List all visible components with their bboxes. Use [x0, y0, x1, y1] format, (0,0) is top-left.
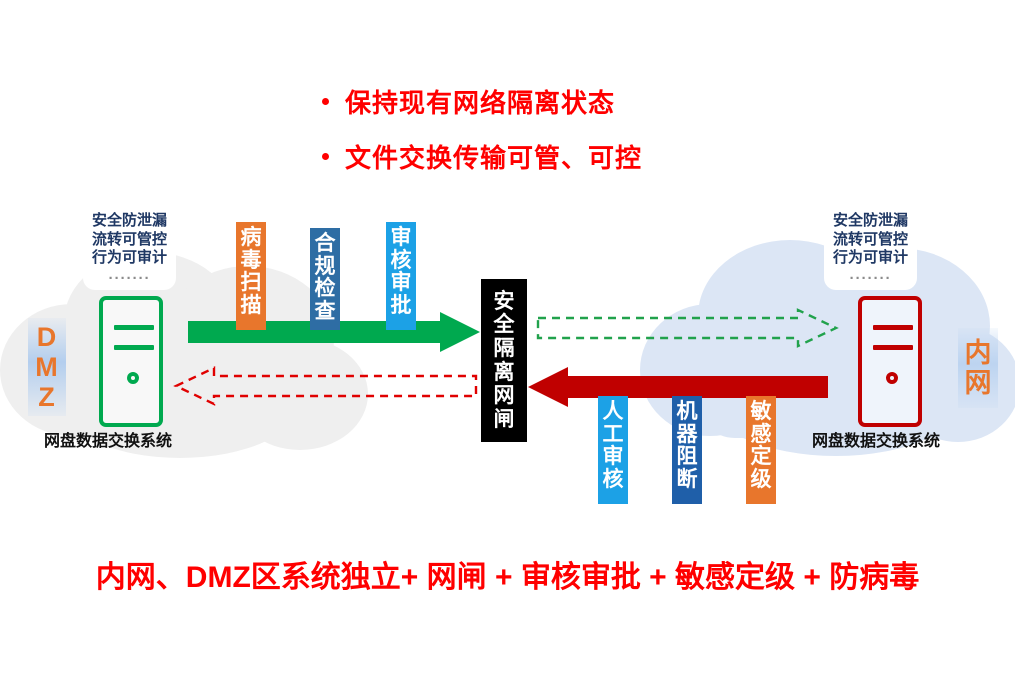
control-chip-char: 审	[603, 446, 624, 469]
intranet-server-icon	[858, 296, 922, 427]
intranet-callout-line-3: 行为可审计	[833, 249, 908, 268]
control-chip-char: 人	[603, 401, 624, 424]
server-bar-icon	[114, 325, 154, 330]
control-chip-char: 合	[315, 233, 336, 256]
dmz-callout-dots: ·······	[92, 268, 167, 286]
bullet-dot-icon	[322, 98, 329, 105]
control-chip-char: 机	[677, 401, 698, 424]
intranet-system-caption: 网盘数据交换系统	[812, 427, 940, 451]
gateway-char: 安	[494, 290, 515, 314]
zone-dmz-letter-3: Z	[38, 382, 56, 412]
footer-summary-text: 内网、DMZ区系统独立+ 网闸 + 审核审批 + 敏感定级 + 防病毒	[0, 552, 1015, 596]
zone-badge-dmz: D M Z	[28, 318, 66, 416]
control-chip-machine-block: 机 器 阻 断	[672, 396, 702, 504]
control-chip-char: 感	[751, 424, 772, 447]
zone-dmz-letter-1: D	[37, 322, 58, 352]
control-chip-char: 审	[391, 272, 412, 295]
control-chip-char: 扫	[241, 272, 262, 295]
control-chip-char: 规	[315, 256, 336, 279]
control-chip-char: 敏	[751, 401, 772, 424]
control-chip-char: 核	[603, 469, 624, 492]
control-chip-char: 核	[391, 250, 412, 273]
control-chip-char: 检	[315, 278, 336, 301]
server-bar-icon	[114, 345, 154, 350]
control-chip-char: 描	[241, 295, 262, 318]
bullet-dot-icon	[322, 153, 329, 160]
gateway-char: 全	[494, 313, 515, 337]
intranet-callout-bubble: 安全防泄漏 流转可管控 行为可审计 ·······	[824, 206, 917, 290]
security-gateway-block: 安 全 隔 离 网 闸	[481, 279, 527, 442]
control-chip-char: 器	[677, 424, 698, 447]
control-chip-char: 审	[391, 227, 412, 250]
gateway-to-intranet-arrow	[538, 310, 836, 346]
zone-intranet-char-2: 网	[965, 368, 992, 398]
zone-badge-intranet: 内 网	[958, 328, 998, 408]
gateway-char: 离	[494, 361, 515, 385]
server-power-icon	[127, 372, 139, 384]
intranet-callout-dots: ·······	[833, 268, 908, 286]
dmz-callout-line-1: 安全防泄漏	[92, 212, 167, 231]
header-bullet-2: 文件交换传输可管、可控	[322, 138, 642, 175]
intranet-callout-line-1: 安全防泄漏	[833, 212, 908, 231]
slide-canvas: 保持现有网络隔离状态 文件交换传输可管、可控	[0, 0, 1015, 675]
header-bullet-2-text: 文件交换传输可管、可控	[345, 138, 642, 175]
control-chip-char: 级	[751, 469, 772, 492]
control-chip-char: 定	[751, 446, 772, 469]
server-bar-icon	[873, 345, 913, 350]
control-chip-manual-review: 人 工 审 核	[598, 396, 628, 504]
control-chip-compliance-check: 合 规 检 查	[310, 228, 340, 330]
control-chip-char: 病	[241, 227, 262, 250]
control-chip-char: 断	[677, 469, 698, 492]
dmz-system-caption: 网盘数据交换系统	[44, 427, 172, 451]
gateway-to-dmz-arrow	[176, 368, 476, 404]
zone-intranet-char-1: 内	[965, 338, 992, 368]
dmz-callout-bubble: 安全防泄漏 流转可管控 行为可审计 ·······	[83, 206, 176, 290]
header-bullet-1-text: 保持现有网络隔离状态	[345, 83, 615, 120]
gateway-char: 网	[494, 384, 515, 408]
dmz-callout-line-2: 流转可管控	[92, 231, 167, 250]
control-chip-sensitivity-grading: 敏 感 定 级	[746, 396, 776, 504]
gateway-char: 闸	[494, 408, 515, 432]
dmz-callout-line-3: 行为可审计	[92, 249, 167, 268]
server-power-icon	[886, 372, 898, 384]
control-chip-char: 毒	[241, 250, 262, 273]
zone-dmz-letter-2: M	[35, 352, 59, 382]
control-chip-review-approval: 审 核 审 批	[386, 222, 416, 330]
control-chip-char: 查	[315, 301, 336, 324]
server-bar-icon	[873, 325, 913, 330]
control-chip-virus-scan: 病 毒 扫 描	[236, 222, 266, 330]
header-bullet-1: 保持现有网络隔离状态	[322, 83, 615, 120]
dmz-server-icon	[99, 296, 163, 427]
control-chip-char: 工	[603, 424, 624, 447]
control-chip-char: 阻	[677, 446, 698, 469]
control-chip-char: 批	[391, 295, 412, 318]
gateway-char: 隔	[494, 337, 515, 361]
intranet-callout-line-2: 流转可管控	[833, 231, 908, 250]
